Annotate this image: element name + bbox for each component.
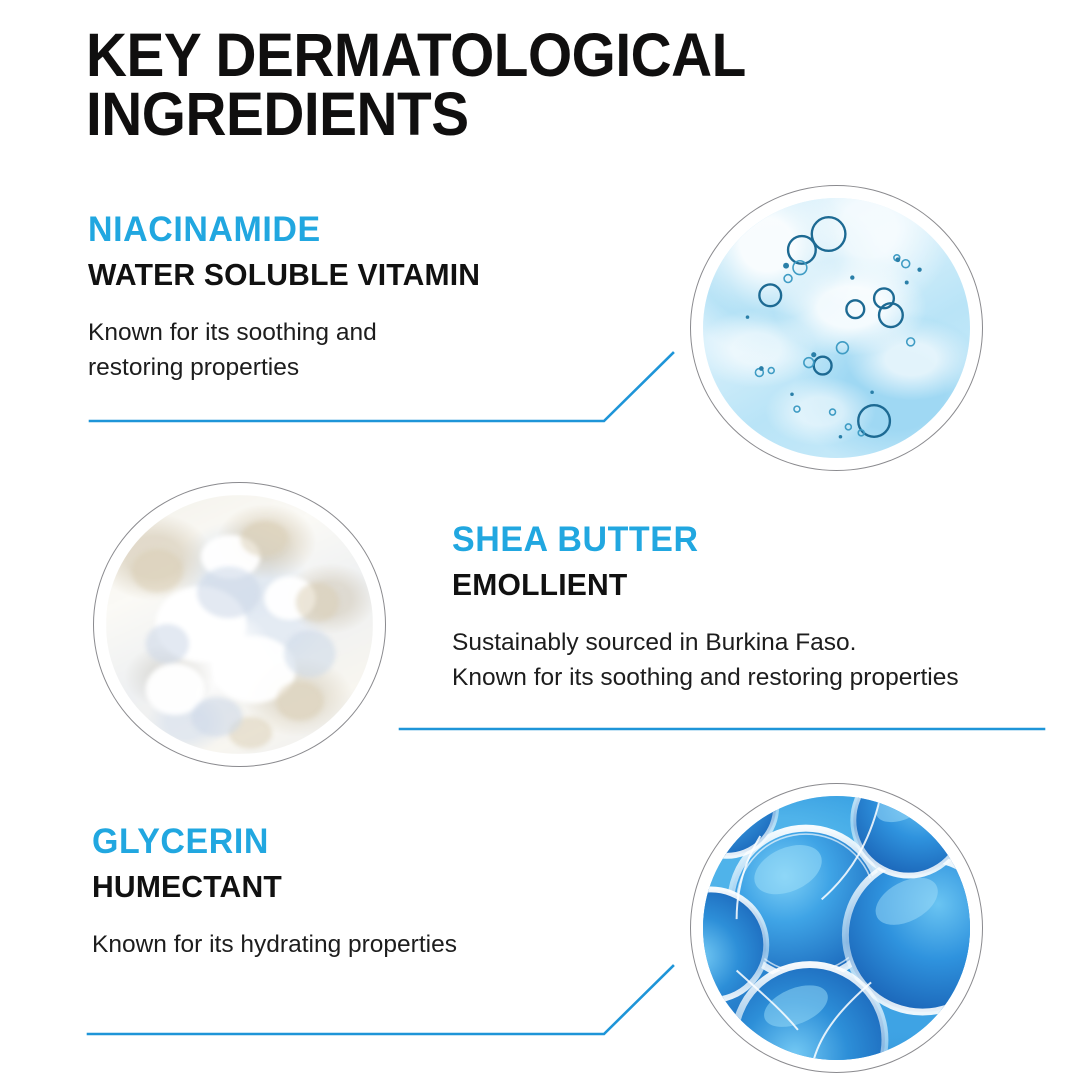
ingredient-description-niacinamide: Known for its soothing and restoring pro…	[88, 316, 492, 386]
ingredient-image-shea-butter	[93, 482, 386, 767]
infographic-page: KEY DERMATOLOGICAL INGREDIENTS NIACINAMI…	[0, 0, 1080, 1080]
water-bubbles-texture-circle	[703, 198, 970, 458]
connector-glycerin	[88, 966, 673, 1034]
page-title: KEY DERMATOLOGICAL INGREDIENTS	[86, 26, 923, 143]
ingredient-description-shea-butter: Sustainably sourced in Burkina Faso. Kno…	[452, 626, 959, 696]
ingredient-block-glycerin: GLYCERIN HUMECTANT Known for its hydrati…	[92, 824, 457, 963]
ingredient-type-glycerin: HUMECTANT	[92, 871, 446, 902]
ingredient-block-niacinamide: NIACINAMIDE WATER SOLUBLE VITAMIN Known …	[88, 212, 492, 386]
bubble-overlay	[703, 198, 970, 458]
glycerin-cell-overlay	[703, 796, 970, 1060]
glycerin-bubbles-texture-circle	[703, 796, 970, 1060]
ingredient-name-shea-butter: SHEA BUTTER	[452, 522, 943, 557]
ingredient-image-glycerin	[690, 783, 983, 1073]
shea-butter-texture-circle	[106, 495, 373, 754]
ingredient-name-niacinamide: NIACINAMIDE	[88, 212, 480, 247]
ingredient-image-niacinamide	[690, 185, 983, 471]
ingredient-type-shea-butter: EMOLLIENT	[452, 569, 943, 600]
ingredient-description-glycerin: Known for its hydrating properties	[92, 928, 457, 963]
ingredient-block-shea-butter: SHEA BUTTER EMOLLIENT Sustainably source…	[452, 522, 959, 696]
ingredient-type-niacinamide: WATER SOLUBLE VITAMIN	[88, 259, 480, 290]
ingredient-name-glycerin: GLYCERIN	[92, 824, 446, 859]
shea-spot-overlay	[106, 495, 373, 754]
